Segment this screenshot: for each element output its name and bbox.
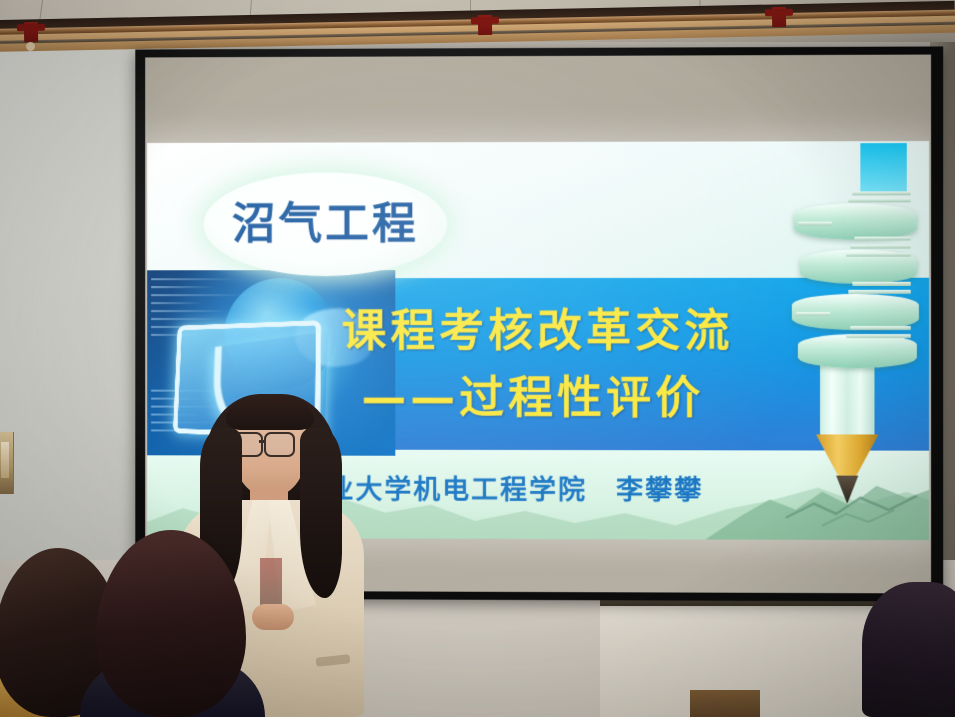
stair-tread — [846, 253, 911, 257]
stair-tread — [854, 237, 911, 241]
sky-panel — [860, 143, 906, 195]
glasses-bridge — [259, 440, 266, 443]
whiteboard-trim — [690, 690, 760, 717]
sprinkler-fitting — [24, 22, 38, 42]
slide-sub-title: ——过程性评价 — [361, 361, 923, 427]
sprinkler-fitting — [772, 7, 786, 27]
sprinkler-fitting — [478, 15, 492, 35]
presenter-hands — [252, 604, 294, 630]
stair-tread — [798, 222, 832, 226]
stair-tread — [852, 282, 911, 286]
slide-presenter-line: 农业大学机电工程学院 李攀攀 — [298, 468, 919, 508]
stair-tread — [848, 198, 911, 202]
wall-switch-plate[interactable] — [0, 432, 14, 494]
sprinkler-head — [26, 42, 35, 51]
stair-tread — [850, 245, 911, 249]
lecture-hall-photo: 沼气工程 课程考核改革交流 ——过程性评价 农业大学机电工程学院 李攀攀 — [0, 0, 955, 717]
audience-person-right — [862, 582, 955, 717]
glasses-icon — [264, 432, 295, 457]
slide-main-title: 课程考核改革交流 — [342, 294, 903, 359]
slide-badge-title: 沼气工程 — [204, 172, 448, 276]
presenter-hair-right — [300, 428, 342, 598]
slide-badge-title-text: 沼气工程 — [232, 202, 419, 246]
stair-tread — [852, 191, 911, 195]
